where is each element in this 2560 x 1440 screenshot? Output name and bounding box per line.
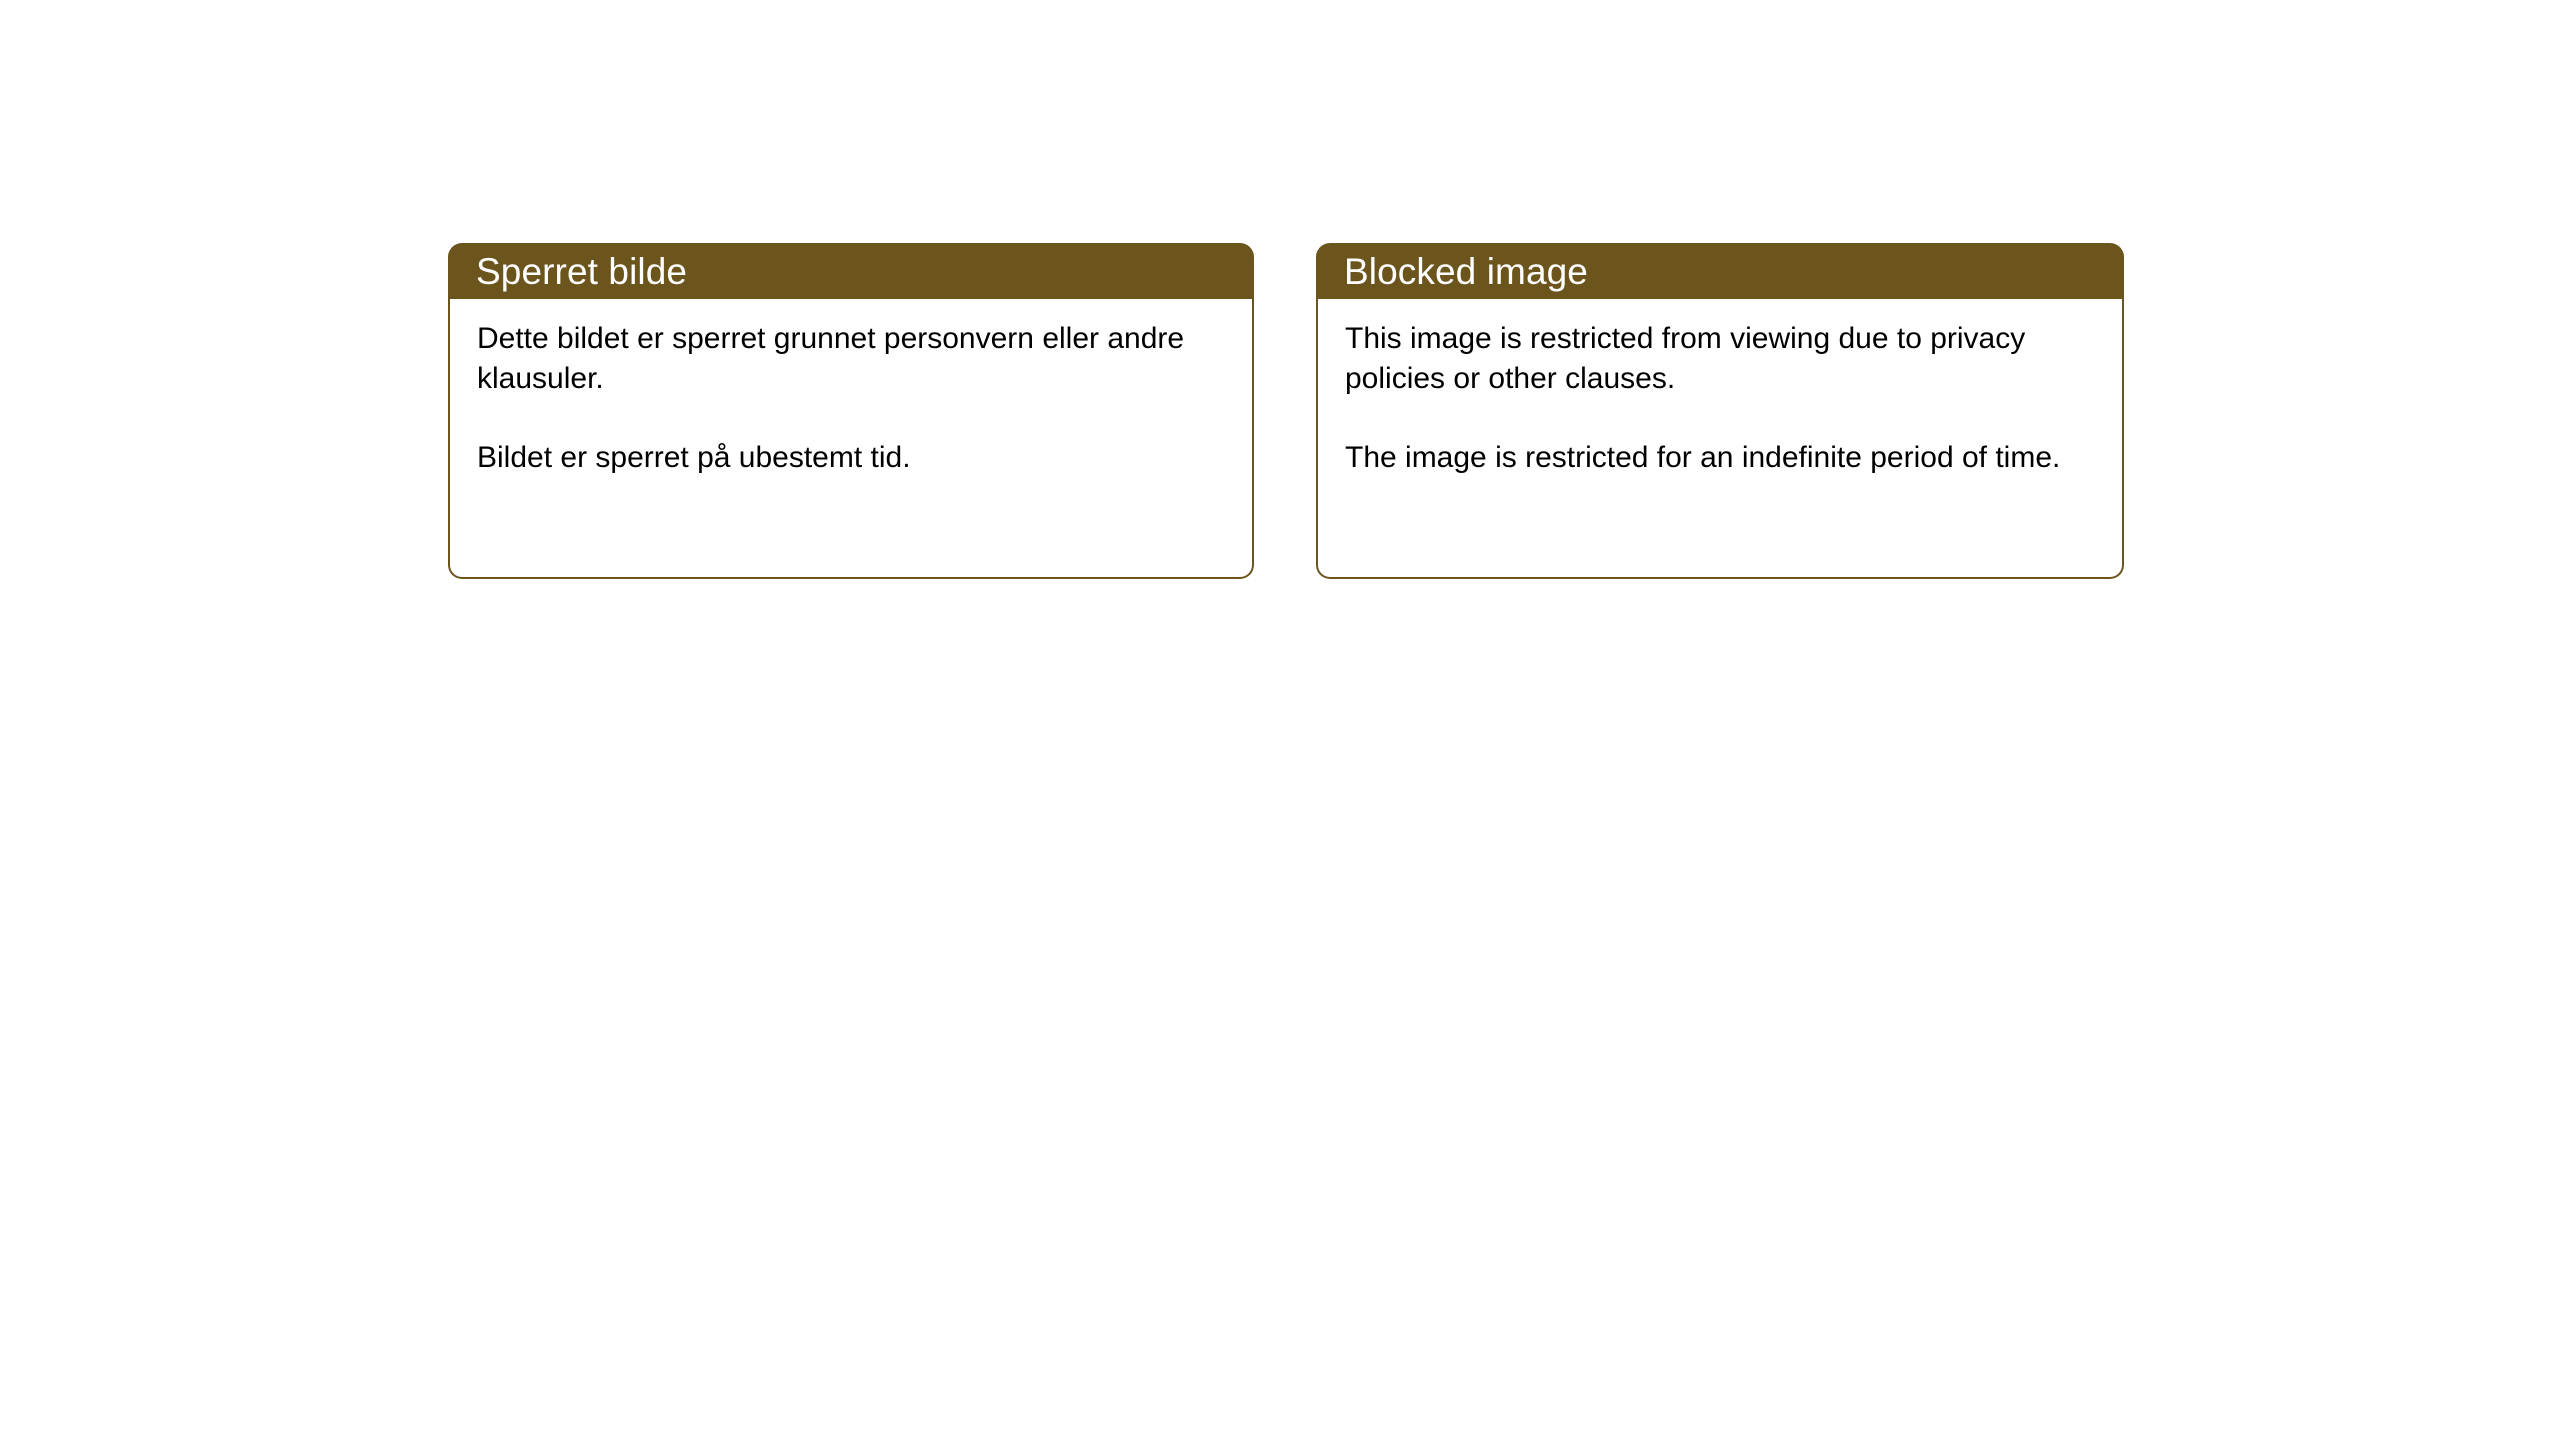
notice-title-english: Blocked image <box>1344 253 1588 290</box>
notice-paragraph-duration-norwegian: Bildet er sperret på ubestemt tid. <box>477 438 1228 478</box>
notice-paragraph-reason-norwegian: Dette bildet er sperret grunnet personve… <box>477 319 1228 398</box>
notice-paragraph-duration-english: The image is restricted for an indefinit… <box>1345 438 2098 478</box>
notice-title-norwegian: Sperret bilde <box>476 253 687 290</box>
notice-body-norwegian: Dette bildet er sperret grunnet personve… <box>448 299 1254 579</box>
notice-paragraph-reason-english: This image is restricted from viewing du… <box>1345 319 2098 398</box>
blocked-image-notice-norwegian: Sperret bilde Dette bildet er sperret gr… <box>448 243 1254 579</box>
page-root: Sperret bilde Dette bildet er sperret gr… <box>0 0 2560 1440</box>
blocked-image-notice-english: Blocked image This image is restricted f… <box>1316 243 2124 579</box>
notice-header-norwegian: Sperret bilde <box>448 243 1254 299</box>
notice-header-english: Blocked image <box>1316 243 2124 299</box>
notice-body-english: This image is restricted from viewing du… <box>1316 299 2124 579</box>
